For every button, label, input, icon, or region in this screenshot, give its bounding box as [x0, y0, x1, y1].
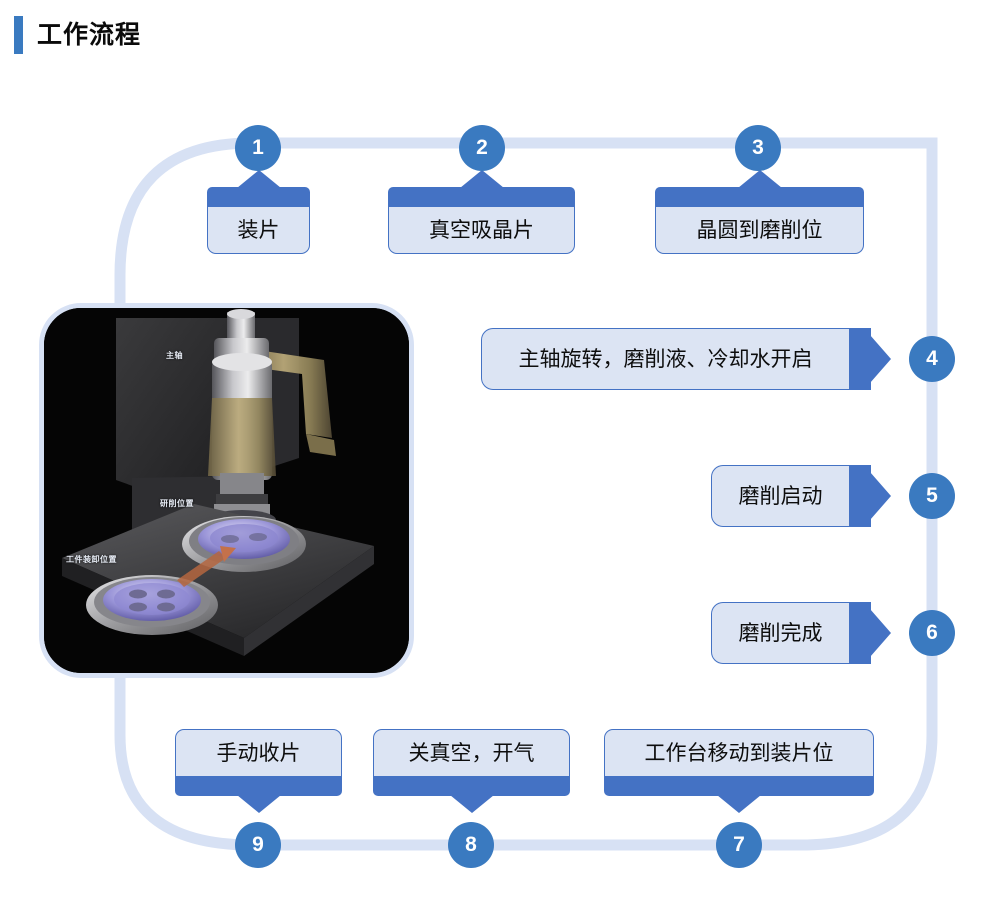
- step-box-1-label: 装片: [238, 220, 280, 241]
- step-number-2[interactable]: 2: [459, 125, 505, 171]
- machine-illustration-panel: 主轴 研削位置 工件装卸位置: [39, 303, 414, 678]
- step-box-8-label: 关真空，开气: [409, 743, 535, 764]
- step-box-3-body: 晶圆到磨削位: [655, 207, 864, 254]
- machine-label-load-position: 工件装卸位置: [66, 554, 117, 565]
- step-box-6-label: 磨削完成: [739, 623, 823, 644]
- step-box-7-body: 工作台移动到装片位: [604, 729, 874, 776]
- step-number-8[interactable]: 8: [448, 822, 494, 868]
- step-box-3[interactable]: 晶圆到磨削位: [655, 187, 864, 254]
- step-box-7[interactable]: 工作台移动到装片位: [604, 729, 874, 796]
- step-box-2[interactable]: 真空吸晶片: [388, 187, 575, 254]
- step-box-1-body: 装片: [207, 207, 310, 254]
- step-box-3-cap: [655, 187, 864, 207]
- step-box-9-label: 手动收片: [217, 743, 301, 764]
- step-number-3[interactable]: 3: [735, 125, 781, 171]
- step-box-3-label: 晶圆到磨削位: [697, 220, 823, 241]
- step-box-2-label: 真空吸晶片: [429, 220, 534, 241]
- step-box-5-cap: [849, 465, 871, 527]
- step-box-7-cap: [604, 776, 874, 796]
- step-box-5-body: 磨削启动: [711, 465, 849, 527]
- step-box-8[interactable]: 关真空，开气: [373, 729, 570, 796]
- step-box-4[interactable]: 主轴旋转，磨削液、冷却水开启: [481, 328, 871, 390]
- step-box-9[interactable]: 手动收片: [175, 729, 342, 796]
- step-number-5[interactable]: 5: [909, 473, 955, 519]
- step-number-9[interactable]: 9: [235, 822, 281, 868]
- step-number-6[interactable]: 6: [909, 610, 955, 656]
- step-number-1[interactable]: 1: [235, 125, 281, 171]
- step-box-1[interactable]: 装片: [207, 187, 310, 254]
- step-box-2-cap: [388, 187, 575, 207]
- step-box-5[interactable]: 磨削启动: [711, 465, 871, 527]
- page-title-block: 工作流程: [14, 16, 141, 54]
- step-number-7[interactable]: 7: [716, 822, 762, 868]
- step-box-6[interactable]: 磨削完成: [711, 602, 871, 664]
- step-box-8-cap: [373, 776, 570, 796]
- step-box-8-body: 关真空，开气: [373, 729, 570, 776]
- step-box-9-body: 手动收片: [175, 729, 342, 776]
- step-box-9-cap: [175, 776, 342, 796]
- workflow-diagram: 主轴 研削位置 工件装卸位置 装片 1 真空吸晶片 2 晶圆到磨削位 3 主轴旋…: [0, 75, 1005, 899]
- step-box-4-cap: [849, 328, 871, 390]
- step-box-6-cap: [849, 602, 871, 664]
- step-box-7-label: 工作台移动到装片位: [645, 743, 834, 764]
- page-title: 工作流程: [37, 23, 141, 48]
- step-box-1-cap: [207, 187, 310, 207]
- step-number-4[interactable]: 4: [909, 336, 955, 382]
- machine-label-grinding-position: 研削位置: [160, 498, 194, 509]
- step-box-4-label: 主轴旋转，磨削液、冷却水开启: [519, 349, 813, 370]
- machine-label-spindle: 主轴: [166, 350, 183, 361]
- step-box-6-body: 磨削完成: [711, 602, 849, 664]
- step-box-5-label: 磨削启动: [739, 486, 823, 507]
- step-box-4-body: 主轴旋转，磨削液、冷却水开启: [481, 328, 849, 390]
- grinder-machine-drawing: [44, 308, 409, 673]
- step-box-2-body: 真空吸晶片: [388, 207, 575, 254]
- title-accent-bar: [14, 16, 23, 54]
